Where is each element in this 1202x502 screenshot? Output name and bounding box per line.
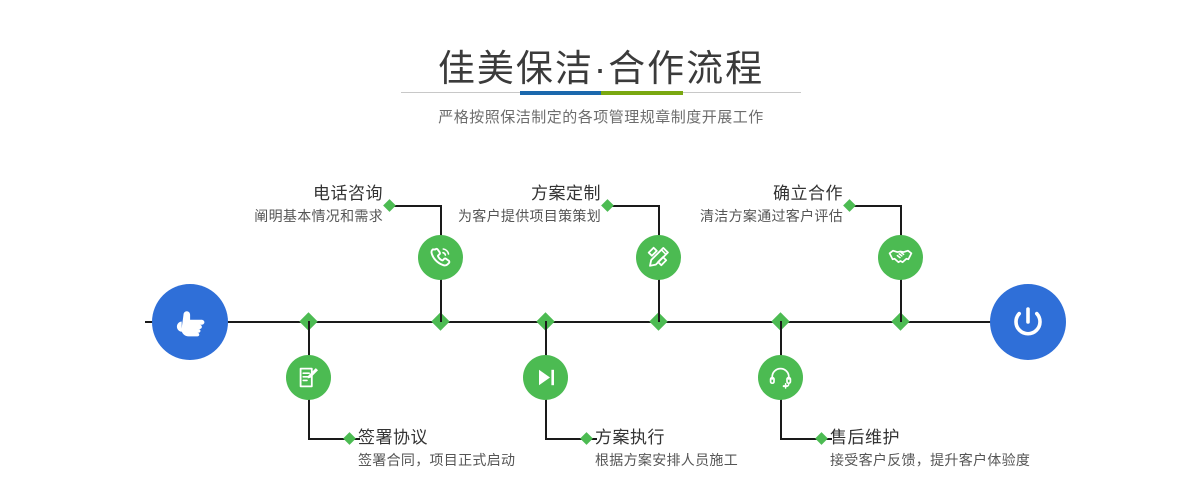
step-title-5: 确立合作 <box>555 183 843 205</box>
timeline-axis <box>145 321 1057 323</box>
phone-call-icon <box>427 244 454 271</box>
process-timeline: 电话咨询 阐明基本情况和需求 签署协议 签署合同，项目正式启动 <box>0 150 1202 502</box>
headset-support-icon <box>767 364 794 391</box>
play-skip-icon <box>532 364 559 391</box>
page-title: 佳美保洁·合作流程 <box>0 38 1202 92</box>
label-marker-step-5 <box>843 199 856 212</box>
power-icon <box>1006 300 1050 344</box>
handshake-icon <box>887 244 914 271</box>
step-desc-5: 清洁方案通过客户评估 <box>555 205 843 227</box>
page-header: 佳美保洁·合作流程 严格按照保洁制定的各项管理规章制度开展工作 <box>0 0 1202 150</box>
timeline-end-node[interactable] <box>990 284 1066 360</box>
connector-horizontal-step-5 <box>849 205 901 207</box>
step-node-6[interactable] <box>758 355 803 400</box>
step-node-4[interactable] <box>523 355 568 400</box>
step-node-1[interactable] <box>418 235 463 280</box>
document-edit-icon <box>295 364 322 391</box>
divider-segment-blue <box>520 91 601 95</box>
timeline-start-node[interactable] <box>152 284 228 360</box>
step-label-5: 确立合作 清洁方案通过客户评估 <box>555 183 843 227</box>
pencil-ruler-icon <box>645 244 672 271</box>
step-node-3[interactable] <box>636 235 681 280</box>
step-desc-6: 接受客户反馈，提升客户体验度 <box>830 449 1160 471</box>
step-title-6: 售后维护 <box>830 427 1160 449</box>
step-node-5[interactable] <box>878 235 923 280</box>
pointing-hand-icon <box>169 301 211 343</box>
page-subtitle: 严格按照保洁制定的各项管理规章制度开展工作 <box>0 106 1202 127</box>
step-label-6: 售后维护 接受客户反馈，提升客户体验度 <box>830 427 1160 471</box>
divider-segment-green <box>601 91 683 95</box>
step-node-2[interactable] <box>286 355 331 400</box>
title-divider <box>401 91 801 95</box>
label-marker-step-2 <box>343 432 356 445</box>
